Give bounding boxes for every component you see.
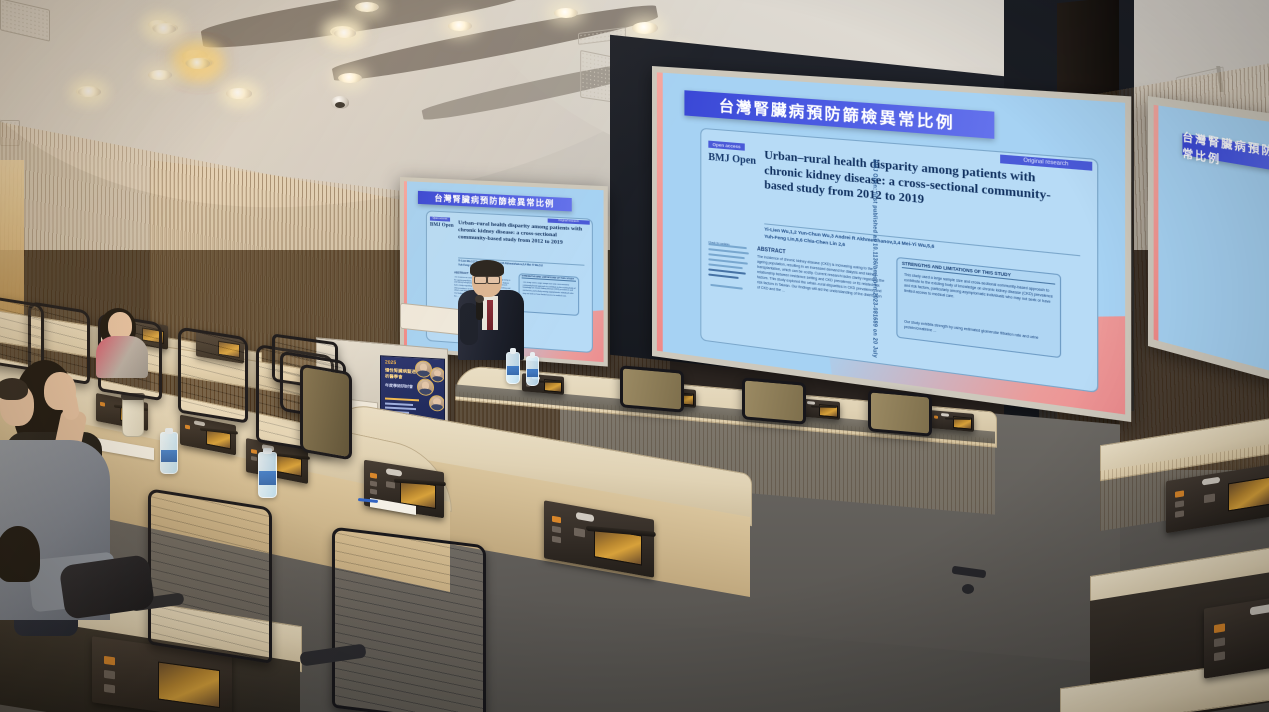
presenter-hair: [470, 260, 504, 277]
abstract-body: The incidence of chronic kidney disease …: [757, 254, 884, 331]
water-bottle: [258, 452, 277, 498]
poster-portrait: [430, 367, 445, 383]
tumbler: [122, 397, 144, 437]
presenter-glasses-icon: [474, 276, 487, 284]
mic-gooseneck: [536, 380, 562, 382]
ceiling-downlight: [186, 58, 210, 69]
paper-card: Original research Open access BMJ Open U…: [700, 128, 1098, 393]
strengths-box: STRENGTHS AND LIMITATIONS OF THIS STUDY …: [896, 257, 1061, 358]
ceiling-downlight: [338, 73, 362, 83]
slide-title-cn: 台灣腎臟病預防篩檢異常比例: [1182, 133, 1269, 177]
ceiling-downlight: [78, 87, 101, 97]
poster-subtitle: 年度學術研討會: [385, 383, 417, 390]
water-bottle: [160, 432, 178, 474]
water-bottle: [526, 356, 539, 386]
mic-display: [158, 661, 220, 708]
strengths-bullet-1: This study used a large sample size and …: [523, 282, 576, 312]
slide-pink-edge: [657, 72, 663, 351]
paper-title: Urban–rural health disparity among patie…: [458, 220, 584, 249]
poster-title: 慢性腎臟病暨透析醫學會: [385, 368, 417, 381]
presenter-glasses-icon: [487, 276, 500, 284]
slide-title-cn: 台灣腎臟病預防篩檢異常比例: [418, 191, 572, 212]
slide-content-main: 台灣腎臟病預防篩檢異常比例 Original research Open acc…: [657, 72, 1125, 414]
ceiling-downlight: [334, 29, 356, 38]
slide-pink-edge: [1154, 105, 1159, 341]
open-access-tag: Open access: [708, 141, 744, 151]
chair-caster: [962, 584, 974, 594]
main-projection-screen: 台灣腎臟病預防篩檢異常比例 Original research Open acc…: [652, 66, 1131, 422]
poster-year: 2025: [385, 360, 396, 367]
ceiling-downlight: [226, 88, 252, 99]
ceiling-downlight: [448, 21, 472, 31]
strengths-box: STRENGTHS AND LIMITATIONS OF THIS STUDY …: [519, 273, 580, 316]
ceiling-downlight: [632, 22, 658, 34]
ceiling-downlight: [554, 8, 578, 18]
ceiling-downlight: [153, 24, 176, 34]
original-research-tag: Original research: [548, 218, 590, 224]
conference-microphone-unit[interactable]: [930, 410, 974, 432]
strengths-heading: STRENGTHS AND LIMITATIONS OF THIS STUDY: [522, 275, 576, 281]
poster-portrait: [429, 395, 445, 412]
conference-room-photo: 台灣腎臟病預防篩檢異常比例 Original research Open acc…: [0, 0, 1269, 712]
journal-name: BMJ Open: [708, 152, 756, 167]
slide-content-right: 台灣腎臟病預防篩檢異常比例: [1154, 105, 1269, 379]
handheld-microphone-icon: [476, 300, 483, 320]
ceiling-downlight: [355, 2, 379, 12]
right-projection-screen: 台灣腎臟病預防篩檢異常比例: [1148, 96, 1269, 387]
open-access-tag: Open access: [430, 217, 450, 222]
sidebar-vertical-text: BMJ Open: first published as 10.1136/bmj…: [872, 159, 879, 358]
dome-camera-icon: [331, 96, 349, 109]
poster-portrait: [417, 378, 434, 396]
water-bottle: [506, 352, 520, 384]
abstract-heading: ABSTRACT: [454, 271, 468, 275]
journal-name: BMJ Open: [430, 223, 454, 229]
ceiling-downlight: [148, 70, 172, 80]
mic-display: [1228, 477, 1269, 512]
authors-line-1: Yi-Lien Wu,1,2 Yun-Chun Wu,3 Andrei R Ak…: [764, 226, 1078, 263]
